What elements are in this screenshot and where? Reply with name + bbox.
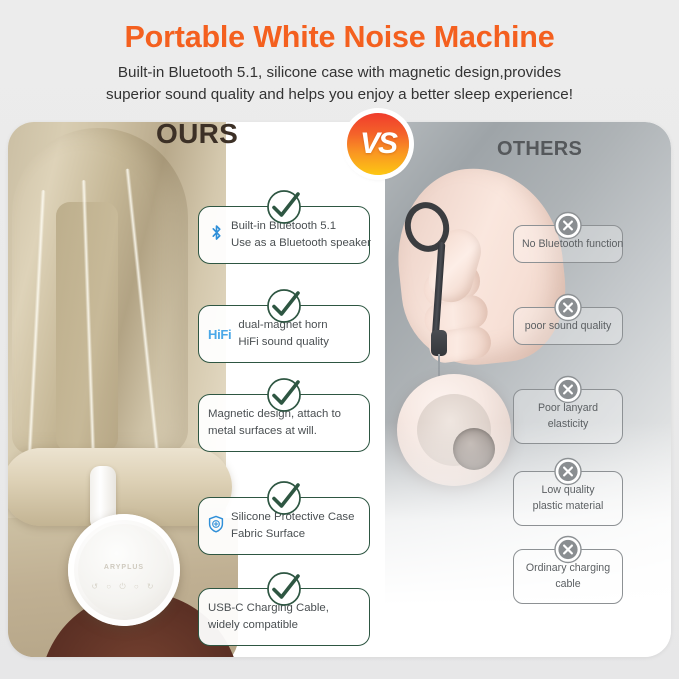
ours-feature-box: Magnetic design, attach to metal surface…	[198, 394, 370, 452]
vs-badge-label: VS	[360, 127, 396, 161]
subtitle-line-1: Built-in Bluetooth 5.1, silicone case wi…	[0, 62, 679, 84]
check-icon	[263, 374, 305, 416]
seat-seam	[27, 190, 46, 452]
others-drawback-line-2: elasticity	[522, 416, 614, 432]
white-noise-machine: ARYPLUS ↺ ○ ⏻ ○ ↻	[68, 514, 180, 626]
hifi-badge: HiFi	[208, 327, 231, 342]
others-drawback-line-2: cable	[522, 576, 614, 592]
close-icon	[553, 374, 584, 405]
device-control-icons: ↺ ○ ⏻ ○ ↻	[78, 582, 170, 592]
device-brand-text: ARYPLUS	[78, 564, 170, 571]
others-heading: OTHERS	[497, 138, 582, 161]
ours-feature-box: HiFi dual-magnet horn HiFi sound quality	[198, 305, 370, 363]
check-icon	[263, 477, 305, 519]
page-subtitle: Built-in Bluetooth 5.1, silicone case wi…	[0, 62, 679, 105]
check-icon	[263, 186, 305, 228]
ours-feature-line-2: metal surfaces at will.	[208, 423, 341, 440]
ours-feature-line-2: widely compatible	[208, 617, 329, 634]
vs-badge: VS	[347, 113, 409, 175]
ours-feature-line-2: HiFi sound quality	[238, 334, 329, 351]
infographic-root: Portable White Noise Machine Built-in Bl…	[0, 0, 679, 679]
seat-seam	[125, 169, 160, 458]
others-drawback-box: Ordinary charging cable	[513, 549, 623, 604]
close-icon	[553, 210, 584, 241]
close-icon	[553, 292, 584, 323]
ours-heading: OURS	[156, 118, 238, 150]
page-title: Portable White Noise Machine	[0, 20, 679, 55]
ours-feature-box: Built-in Bluetooth 5.1 Use as a Bluetoot…	[198, 206, 370, 264]
ours-feature-line-2: Fabric Surface	[231, 526, 354, 543]
close-icon	[553, 534, 584, 565]
ours-feature-line-2: Use as a Bluetooth speaker	[231, 235, 371, 252]
ours-product-photo: ARYPLUS ↺ ○ ⏻ ○ ↻	[8, 122, 226, 657]
photo-fade-overlay	[385, 422, 671, 657]
others-drawback-box: poor sound quality	[513, 307, 623, 345]
subtitle-line-2: superior sound quality and helps you enj…	[0, 84, 679, 106]
others-drawback-box: No Bluetooth function	[513, 225, 623, 263]
others-drawback-box: Poor lanyard elasticity	[513, 389, 623, 444]
shield-plus-icon	[208, 515, 224, 538]
device-face: ARYPLUS ↺ ○ ⏻ ○ ↻	[78, 524, 170, 616]
check-icon	[263, 285, 305, 327]
others-drawback-box: Low quality plastic material	[513, 471, 623, 526]
car-seat-back	[12, 128, 188, 454]
lanyard-tip	[431, 330, 447, 356]
close-icon	[553, 456, 584, 487]
check-icon	[263, 568, 305, 610]
others-drawback-line-2: plastic material	[522, 498, 614, 514]
ours-feature-box: Silicone Protective Case Fabric Surface	[198, 497, 370, 555]
bluetooth-icon	[208, 224, 224, 246]
ours-feature-box: USB-C Charging Cable, widely compatible	[198, 588, 370, 646]
